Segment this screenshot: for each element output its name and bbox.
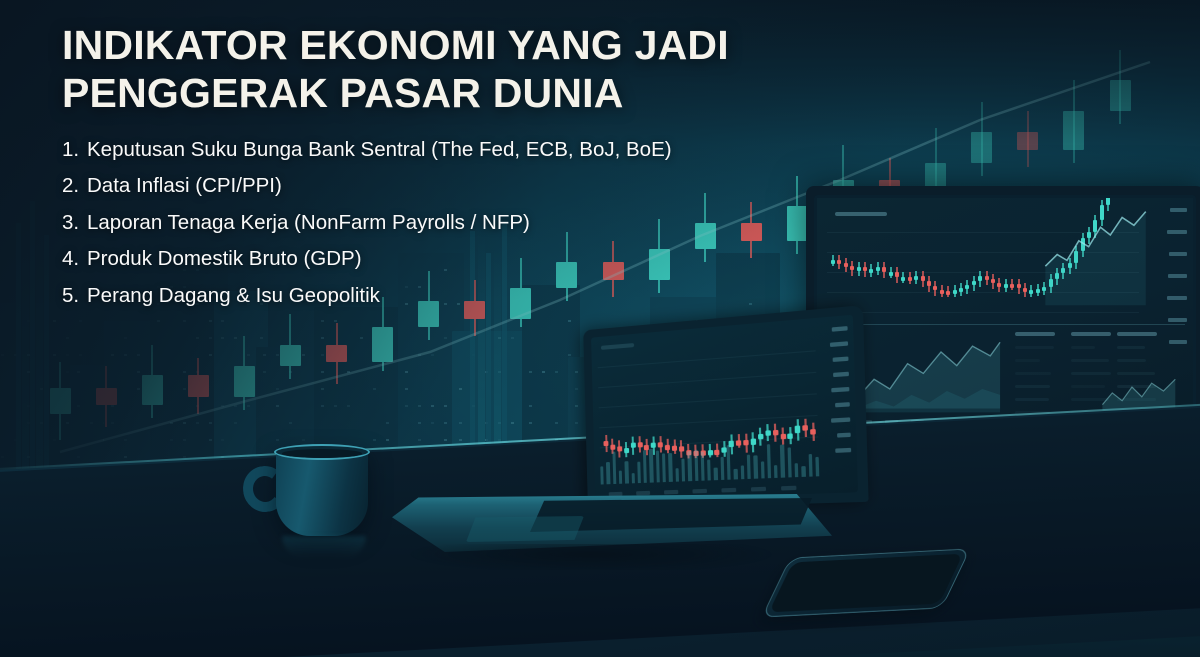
volume-bar [734,469,738,479]
laptop-time-tick [609,492,623,497]
volume-bar [649,449,653,483]
laptop-candlestick-body [780,434,786,440]
list-item-number: 2. [62,176,87,197]
list-item: 4.Produk Domestik Bruto (GDP) [62,249,762,270]
laptop-time-tick [692,489,707,494]
volume-bar [681,459,685,482]
volume-bar [675,468,679,482]
infographic-slide: INDIKATOR EKONOMI YANG JADI PENGGERAK PA… [0,0,1200,657]
list-item: 3.Laporan Tenaga Kerja (NonFarm Payrolls… [62,213,762,234]
volume-bar [688,451,692,481]
volume-bar [780,445,785,478]
volume-bar [662,453,666,482]
laptop-price-tick [832,356,848,362]
monitor-mini-chart [817,198,1193,427]
volume-bar [774,465,778,478]
volume-bar [740,466,744,479]
laptop-price-tick [836,448,852,453]
mug-interior [282,449,362,458]
laptop-price-tick [830,341,848,347]
volume-bar [808,454,812,477]
list-item: 2.Data Inflasi (CPI/PPI) [62,176,762,197]
list-item-label: Laporan Tenaga Kerja (NonFarm Payrolls /… [87,213,762,234]
laptop-candlestick-body [630,442,635,448]
laptop-price-tick [831,417,850,422]
laptop-trackpad[interactable] [466,516,584,542]
laptop-candlestick-body [795,426,801,434]
list-item-number: 5. [62,286,87,307]
volume-bar [815,457,819,477]
volume-bar [714,468,718,481]
laptop-candlestick-body [765,431,771,437]
list-item-label: Data Inflasi (CPI/PPI) [87,176,762,197]
volume-bar [606,462,610,484]
laptop-price-tick [831,387,849,393]
list-item-label: Keputusan Suku Bunga Bank Sentral (The F… [87,140,762,161]
monitor-bezel [814,195,1196,430]
volume-bar [707,460,711,481]
laptop-candlestick-body [603,441,608,446]
laptop-time-tick [781,486,796,491]
volume-bar [747,455,751,479]
volume-bar [668,453,672,482]
laptop [392,330,862,580]
monitor-screen[interactable] [817,198,1193,427]
volume-bar [619,471,623,484]
volume-bar [694,450,698,481]
list-item: 1.Keputusan Suku Bunga Bank Sentral (The… [62,140,762,161]
laptop-candlestick-body [758,434,764,440]
laptop-shadow [402,544,822,570]
laptop-screen[interactable] [591,315,858,501]
title-line-1: INDIKATOR EKONOMI YANG JADI [62,22,729,68]
laptop-time-tick [751,487,766,492]
laptop-price-tick [832,326,848,332]
list-item: 5.Perang Dagang & Isu Geopolitik [62,286,762,307]
volume-bar [787,448,792,478]
laptop-time-tick [636,491,650,496]
volume-bar [795,464,799,478]
volume-bar [637,461,641,483]
coffee-mug [276,448,368,536]
headline-block: INDIKATOR EKONOMI YANG JADI PENGGERAK PA… [62,22,762,322]
volume-bar [643,450,647,482]
title-line-2: PENGGERAK PASAR DUNIA [62,70,624,116]
volume-bar [727,445,732,480]
volume-bar [656,451,660,483]
volume-bar [753,455,757,478]
laptop-time-tick [721,488,736,493]
laptop-candlestick-body [637,442,642,447]
laptop-lid [583,305,868,510]
volume-bar [600,467,604,485]
smartphone-screen [769,554,963,613]
laptop-price-tick [833,372,849,377]
list-item-label: Produk Domestik Bruto (GDP) [87,249,762,270]
indicator-list: 1.Keputusan Suku Bunga Bank Sentral (The… [62,140,762,307]
mug-reflection [282,536,366,558]
list-item-label: Perang Dagang & Isu Geopolitik [87,286,762,307]
laptop-candlestick-body [810,429,816,435]
list-item-number: 3. [62,213,87,234]
laptop-time-tick [664,490,678,495]
laptop-candlestick-body [788,433,794,439]
page-title: INDIKATOR EKONOMI YANG JADI PENGGERAK PA… [62,22,762,118]
laptop-price-tick [835,402,850,407]
volume-bar [767,444,772,479]
volume-bar [802,466,806,477]
list-item-number: 1. [62,140,87,161]
list-item-number: 4. [62,249,87,270]
volume-bar [631,473,635,483]
volume-bar [612,452,616,484]
laptop-candlestick-body [803,425,809,431]
volume-bar [760,461,764,478]
volume-bar [720,457,724,480]
volume-bar [625,461,629,484]
laptop-price-tick [837,433,851,438]
laptop-candlestick-body [773,430,779,436]
volume-bar [700,451,704,480]
